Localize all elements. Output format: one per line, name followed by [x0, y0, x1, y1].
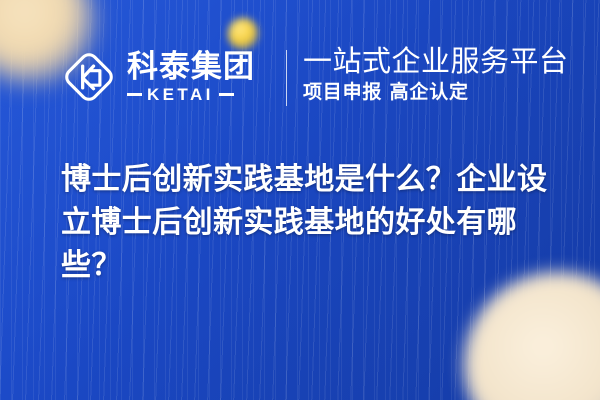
ketai-diamond-monogram-icon — [60, 48, 118, 106]
promo-banner: 科泰集团 KETAI 一站式企业服务平台 项目申报 高企认定 博士后创新实践基地… — [0, 0, 600, 400]
brand-name-en: KETAI — [147, 86, 214, 103]
tagline-sub: 项目申报 高企认定 — [303, 81, 569, 105]
vertical-divider — [286, 50, 287, 106]
tagline-block: 一站式企业服务平台 项目申报 高企认定 — [303, 44, 569, 105]
brand-name-cn: 科泰集团 — [127, 51, 255, 84]
tagline-main: 一站式企业服务平台 — [303, 44, 569, 78]
brand-name-en-row: KETAI — [127, 86, 255, 103]
dash-right-icon — [219, 93, 234, 96]
dash-left-icon — [127, 93, 142, 96]
page-title: 博士后创新实践基地是什么？企业设立博士后创新实践基地的好处有哪些？ — [61, 158, 553, 287]
brand-logo[interactable]: 科泰集团 KETAI — [60, 44, 255, 110]
